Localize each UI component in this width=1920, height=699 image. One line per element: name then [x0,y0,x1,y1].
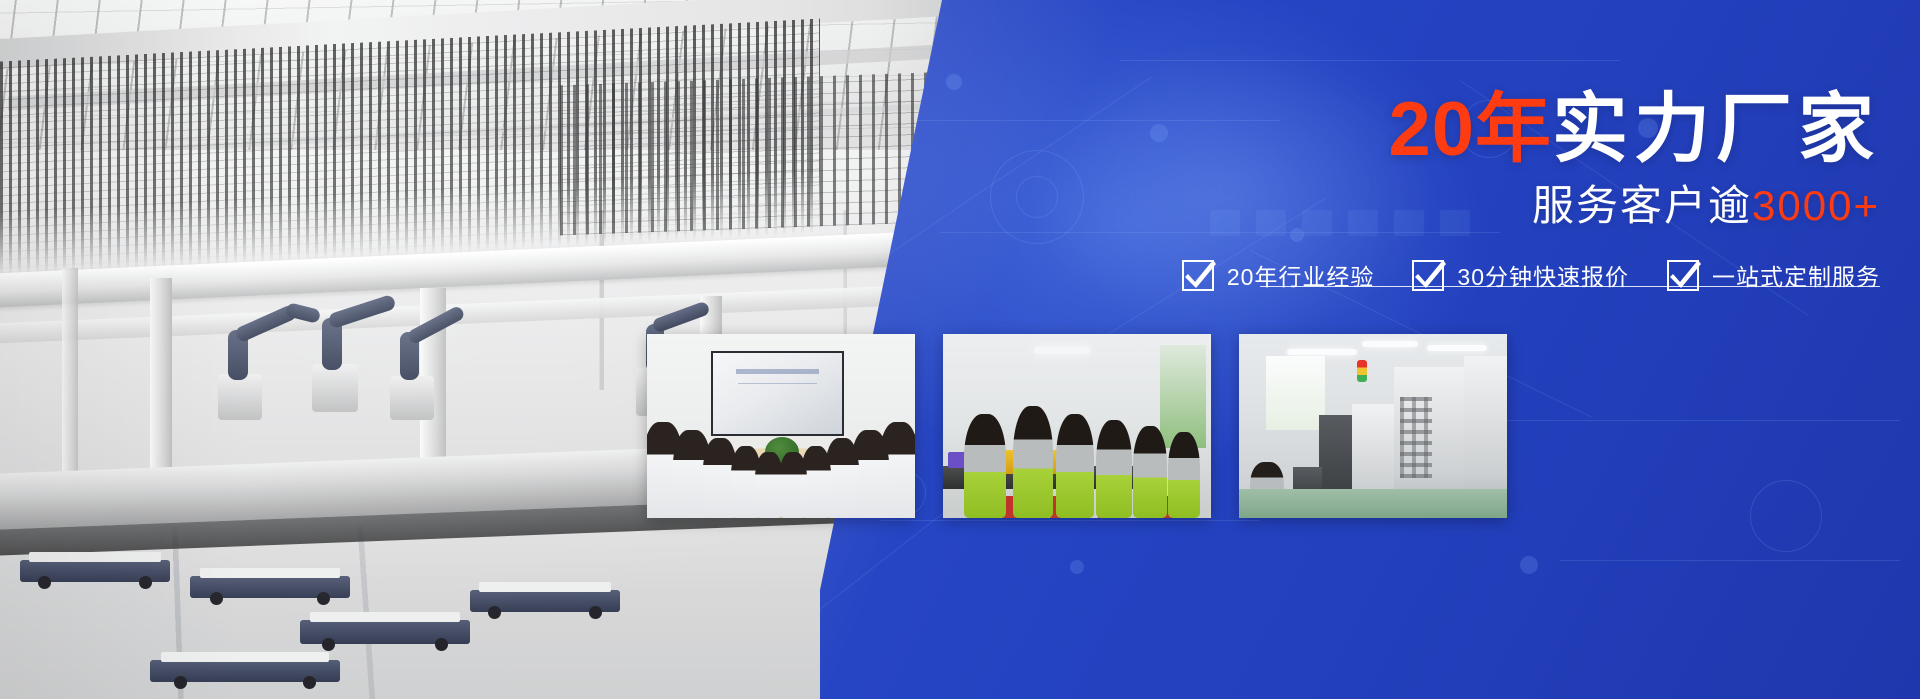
cnc-workshop-photo [1239,334,1507,518]
feature-list: 20年行业经验 30分钟快速报价 一站式定制服务 [1180,258,1880,292]
checkbox-check-icon [1412,260,1444,291]
subheadline-text: 服务客户逾 [1532,182,1752,229]
promo-banner: 20年实力厂家 服务客户逾3000+ 20年行业经验 [0,0,1920,699]
thumbnail-strip [647,334,1507,518]
feature-item: 30分钟快速报价 [1412,258,1629,292]
subheadline: 服务客户逾3000+ [1532,185,1880,227]
headline-rest: 实力厂家 [1552,87,1880,172]
feature-item: 一站式定制服务 [1667,258,1880,292]
checkbox-check-icon [1667,260,1699,291]
feature-label: 一站式定制服务 [1712,258,1880,292]
checkbox-check-icon [1182,260,1214,291]
meeting-room-photo [647,334,915,518]
feature-label: 20年行业经验 [1227,258,1375,292]
subheadline-count: 3000+ [1752,182,1880,229]
feature-item: 20年行业经验 [1182,258,1375,292]
assembly-line-photo [943,334,1211,518]
headline: 20年实力厂家 [1388,92,1880,168]
headline-years: 20年 [1388,87,1552,172]
feature-label: 30分钟快速报价 [1457,258,1629,292]
